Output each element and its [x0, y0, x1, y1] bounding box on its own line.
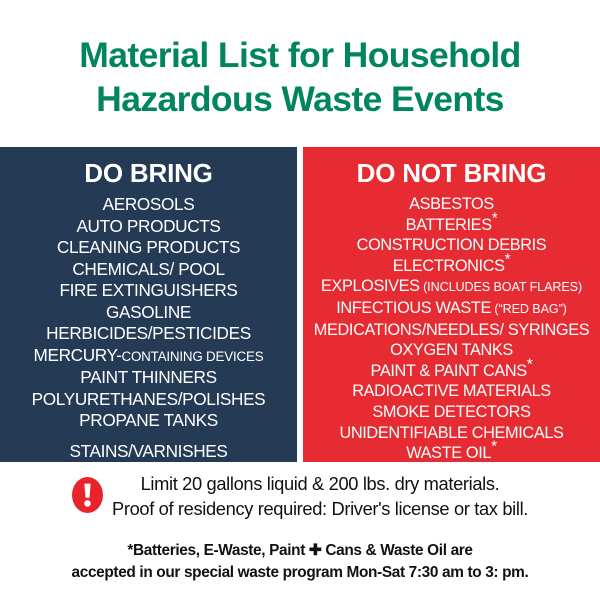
- list-item-label: PAINT & PAINT CANS: [371, 362, 527, 380]
- list-item-label: WASTE OIL: [406, 444, 491, 462]
- list-item-label: CONSTRUCTION DEBRIS: [357, 236, 547, 254]
- footer-line-2: Proof of residency required: Driver's li…: [112, 496, 528, 521]
- list-item: BATTERIES*: [307, 215, 596, 236]
- title-line-2: Hazardous Waste Events: [96, 77, 504, 121]
- list-item-label: SMOKE DETECTORS: [372, 403, 530, 421]
- list-item: HERBICIDES/PESTICIDES: [4, 323, 293, 345]
- list-item: PAINT & PAINT CANS*: [307, 361, 596, 382]
- list-item: UNIDENTIFIABLE CHEMICALS: [307, 423, 596, 444]
- asterisk-marker: *: [492, 210, 498, 227]
- list-item: SMOKE DETECTORS: [307, 402, 596, 423]
- list-item-label: CLEANING PRODUCTS: [57, 237, 240, 257]
- list-item-label: ELECTRONICS: [393, 257, 505, 275]
- do-not-bring-panel: DO NOT BRING ASBESTOSBATTERIES*CONSTRUCT…: [303, 147, 600, 462]
- list-item: PAINT THINNERS: [4, 367, 293, 389]
- list-item: GASOLINE: [4, 302, 293, 324]
- list-item: WASTE OIL*: [307, 443, 596, 462]
- warning-exclamation-icon: [72, 477, 103, 513]
- list-item-label: BATTERIES: [406, 216, 492, 234]
- list-item: OXYGEN TANKS: [307, 340, 596, 361]
- list-item: EXPLOSIVES (INCLUDES BOAT FLARES): [307, 276, 596, 298]
- asterisk-marker: *: [527, 356, 533, 373]
- list-item: PROPANE TANKS: [4, 410, 293, 432]
- footer: Limit 20 gallons liquid & 200 lbs. dry m…: [0, 462, 600, 600]
- do-bring-panel: DO BRING AEROSOLSAUTO PRODUCTSCLEANING P…: [0, 147, 297, 462]
- do-bring-item-list: AEROSOLSAUTO PRODUCTSCLEANING PRODUCTSCH…: [4, 194, 293, 462]
- list-item: CHEMICALS/ POOL: [4, 259, 293, 281]
- list-item-label: UNIDENTIFIABLE CHEMICALS: [339, 424, 563, 442]
- list-item-label: INFECTIOUS WASTE: [336, 299, 491, 317]
- list-item: AEROSOLS: [4, 194, 293, 216]
- list-item-subnote: (INCLUDES BOAT FLARES): [420, 280, 582, 294]
- list-item: RADIOACTIVE MATERIALS: [307, 381, 596, 402]
- list-item: CONSTRUCTION DEBRIS: [307, 235, 596, 256]
- list-item-label: POLYURETHANES/POLISHES: [32, 389, 266, 409]
- list-item-label: MEDICATIONS/NEEDLES/ SYRINGES: [314, 321, 589, 339]
- list-item: ELECTRONICS*: [307, 256, 596, 277]
- list-item-label: ASBESTOS: [409, 195, 494, 213]
- list-item: ASBESTOS: [307, 194, 596, 215]
- list-item: STAINS/VARNISHES: [4, 441, 293, 463]
- list-item: CLEANING PRODUCTS: [4, 237, 293, 259]
- footer-line-1: Limit 20 gallons liquid & 200 lbs. dry m…: [112, 471, 528, 496]
- footer-main-block: Limit 20 gallons liquid & 200 lbs. dry m…: [0, 471, 600, 521]
- list-item-label: GASOLINE: [106, 302, 191, 322]
- do-not-bring-heading: DO NOT BRING: [307, 158, 596, 188]
- footer-limit-text: Limit 20 gallons liquid & 200 lbs. dry m…: [112, 471, 528, 521]
- list-item: AUTO PRODUCTS: [4, 216, 293, 238]
- list-item: FIRE EXTINGUISHERS: [4, 280, 293, 302]
- list-item-subnote: (“RED BAG”): [491, 302, 567, 316]
- list-item-subnote: CONTAINING DEVICES: [121, 349, 263, 364]
- list-item-label: FIRE EXTINGUISHERS: [59, 280, 237, 300]
- asterisk-marker: *: [505, 251, 511, 268]
- footer-note-line-2: accepted in our special waste program Mo…: [0, 562, 600, 584]
- list-item: POLYURETHANES/POLISHES: [4, 389, 293, 411]
- list-item-label: HERBICIDES/PESTICIDES: [46, 323, 251, 343]
- hazardous-waste-poster: Material List for Household Hazardous Wa…: [0, 0, 600, 600]
- list-item-label: OXYGEN TANKS: [390, 341, 513, 359]
- list-item-label: AUTO PRODUCTS: [76, 216, 220, 236]
- do-bring-heading: DO BRING: [4, 158, 293, 188]
- list-item-label: STAINS/VARNISHES: [69, 441, 227, 461]
- list-item-label: EXPLOSIVES: [321, 277, 420, 295]
- list-item-label: CHEMICALS/ POOL: [72, 259, 224, 279]
- asterisk-marker: *: [491, 439, 497, 456]
- list-item-label: AEROSOLS: [103, 194, 195, 214]
- footer-asterisk-note: *Batteries, E-Waste, Paint ✚ Cans & Wast…: [0, 540, 600, 584]
- material-lists: DO BRING AEROSOLSAUTO PRODUCTSCLEANING P…: [0, 147, 600, 462]
- list-item-label: PROPANE TANKS: [79, 410, 218, 430]
- title-line-1: Material List for Household: [79, 33, 520, 77]
- page-title: Material List for Household Hazardous Wa…: [0, 0, 600, 147]
- do-not-bring-item-list: ASBESTOSBATTERIES*CONSTRUCTION DEBRISELE…: [307, 194, 596, 462]
- list-item-label: PAINT THINNERS: [80, 367, 216, 387]
- list-item-label: MERCURY-: [34, 345, 122, 365]
- footer-note-line-1: *Batteries, E-Waste, Paint ✚ Cans & Wast…: [0, 540, 600, 562]
- list-item: MEDICATIONS/NEEDLES/ SYRINGES: [307, 320, 596, 341]
- list-item: INFECTIOUS WASTE (“RED BAG”): [307, 298, 596, 320]
- list-item: MERCURY-CONTAINING DEVICES: [4, 345, 293, 368]
- list-item-label: RADIOACTIVE MATERIALS: [352, 382, 551, 400]
